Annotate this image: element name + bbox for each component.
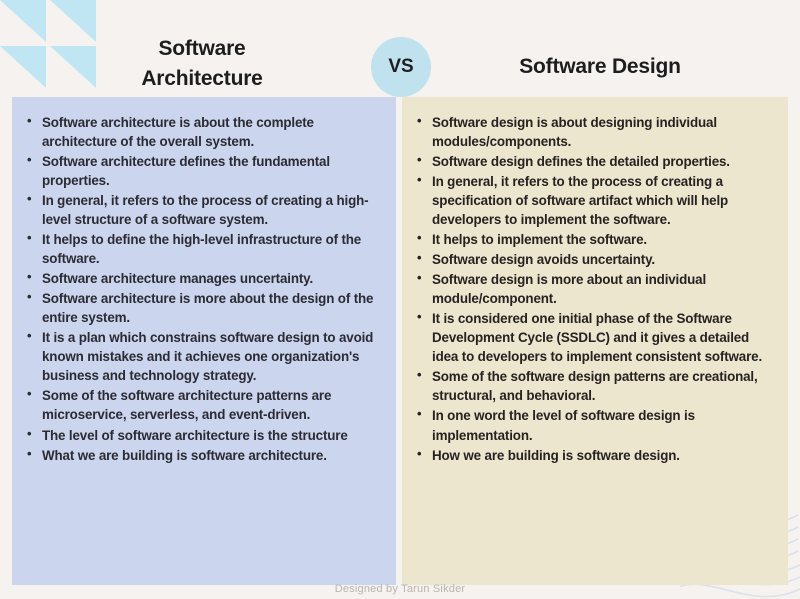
list-item: Software architecture defines the fundam…	[24, 152, 384, 190]
panel-software-design: Software design is about designing indiv…	[402, 97, 788, 585]
list-item: Software architecture is more about the …	[24, 289, 384, 327]
page-title-left-line2: Architecture	[70, 64, 334, 94]
list-item: Software design defines the detailed pro…	[414, 152, 776, 171]
list-item: How we are building is software design.	[414, 446, 776, 465]
panel-software-architecture: Software architecture is about the compl…	[12, 97, 396, 585]
list-item: It helps to implement the software.	[414, 230, 776, 249]
architecture-point-list: Software architecture is about the compl…	[24, 113, 384, 465]
list-item: Software architecture manages uncertaint…	[24, 269, 384, 288]
list-item: Software design is about designing indiv…	[414, 113, 776, 151]
list-item: The level of software architecture is th…	[24, 426, 384, 445]
list-item: Software design avoids uncertainty.	[414, 250, 776, 269]
list-item: Some of the software design patterns are…	[414, 367, 776, 405]
page-title-right: Software Design	[450, 52, 750, 82]
list-item: In one word the level of software design…	[414, 406, 776, 444]
list-item: What we are building is software archite…	[24, 446, 384, 465]
comparison-infographic: Software Architecture Software Design VS…	[0, 0, 800, 599]
list-item: It helps to define the high-level infras…	[24, 230, 384, 268]
list-item: Some of the software architecture patter…	[24, 386, 384, 424]
list-item: It is a plan which constrains software d…	[24, 328, 384, 385]
list-item: In general, it refers to the process of …	[414, 172, 776, 229]
vs-badge-label: VS	[388, 56, 413, 78]
page-title-left: Software Architecture	[70, 34, 334, 95]
design-point-list: Software design is about designing indiv…	[414, 113, 776, 465]
vs-badge: VS	[371, 37, 431, 97]
comparison-panels: Software architecture is about the compl…	[0, 97, 800, 585]
list-item: Software design is more about an individ…	[414, 270, 776, 308]
list-item: Software architecture is about the compl…	[24, 113, 384, 151]
credit-text: Designed by Tarun Sikder	[0, 583, 800, 595]
list-item: In general, it refers to the process of …	[24, 191, 384, 229]
page-title-left-line1: Software	[70, 34, 334, 64]
list-item: It is considered one initial phase of th…	[414, 309, 776, 366]
